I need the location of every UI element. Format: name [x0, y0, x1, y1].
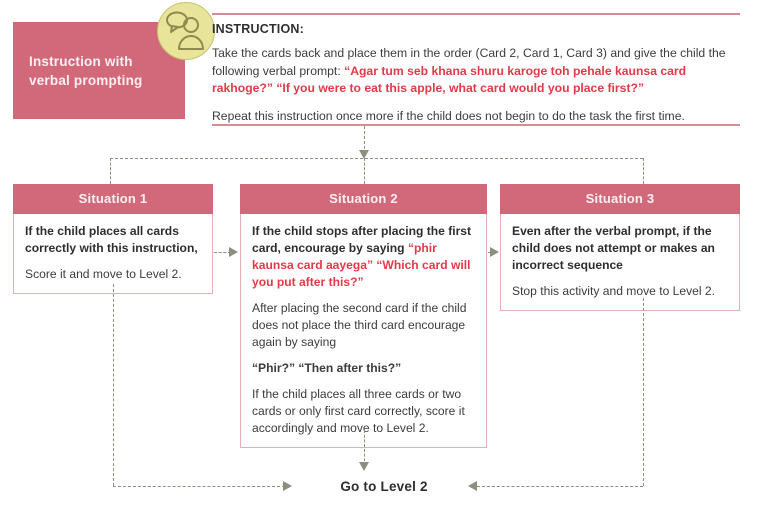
- situation-2-line-3: After placing the second card if the chi…: [252, 300, 475, 351]
- situation-3-box: Situation 3 Even after the verbal prompt…: [500, 184, 740, 311]
- connector-sit2-down: [364, 430, 365, 466]
- connector-bus-horizontal: [110, 158, 643, 159]
- situation-2-line-1-plain: If the child stops after placing the fir…: [252, 224, 471, 255]
- connector-sit3-down: [643, 298, 644, 486]
- connector-bus-to-situation-3: [643, 158, 644, 184]
- instruction-heading: INSTRUCTION:: [212, 22, 740, 36]
- person-speech-bubble-icon: [157, 2, 215, 60]
- go-to-level-2-label: Go to Level 2: [302, 479, 466, 494]
- situation-1-header: Situation 1: [13, 184, 213, 214]
- situation-2-line-4: “Phir?” “Then after this?”: [252, 360, 475, 377]
- connector-sit2-arrowhead: [359, 462, 369, 471]
- flowchart-canvas: Instruction with verbal prompting INSTRU…: [0, 0, 768, 512]
- situation-3-line-2: Stop this activity and move to Level 2.: [512, 283, 728, 300]
- situation-1-body: If the child places all cards correctly …: [13, 214, 213, 294]
- situation-2-line-1: If the child stops after placing the fir…: [252, 223, 475, 291]
- situation-1-line-2: Score it and move to Level 2.: [25, 266, 201, 283]
- instruction-rule-top: [212, 13, 740, 15]
- connector-sit1-bottom-arrowhead: [283, 481, 292, 491]
- situation-3-body: Even after the verbal prompt, if the chi…: [500, 214, 740, 311]
- connector-sit3-bottom-horizontal: [477, 486, 643, 487]
- situation-2-header: Situation 2: [240, 184, 487, 214]
- situation-1-box: Situation 1 If the child places all card…: [13, 184, 213, 294]
- connector-bus-to-situation-2: [364, 158, 365, 184]
- situation-2-box: Situation 2 If the child stops after pla…: [240, 184, 487, 448]
- connector-bus-to-situation-1: [110, 158, 111, 184]
- instruction-paragraph-1: Take the cards back and place them in th…: [212, 45, 740, 98]
- situation-2-body: If the child stops after placing the fir…: [240, 214, 487, 448]
- situation-1-line-1: If the child places all cards correctly …: [25, 223, 201, 257]
- connector-sit1-to-sit2-arrowhead: [229, 247, 238, 257]
- connector-sit2-to-sit3-arrowhead: [490, 247, 499, 257]
- situation-3-line-1: Even after the verbal prompt, if the chi…: [512, 223, 728, 274]
- situation-3-header: Situation 3: [500, 184, 740, 214]
- instruction-panel: INSTRUCTION: Take the cards back and pla…: [212, 22, 740, 135]
- instruction-paragraph-2: Repeat this instruction once more if the…: [212, 108, 740, 126]
- instruction-title-label: Instruction with verbal prompting: [29, 52, 175, 90]
- connector-sit1-bottom-horizontal: [113, 486, 285, 487]
- connector-sit1-down: [113, 284, 114, 486]
- connector-sit3-bottom-arrowhead: [468, 481, 477, 491]
